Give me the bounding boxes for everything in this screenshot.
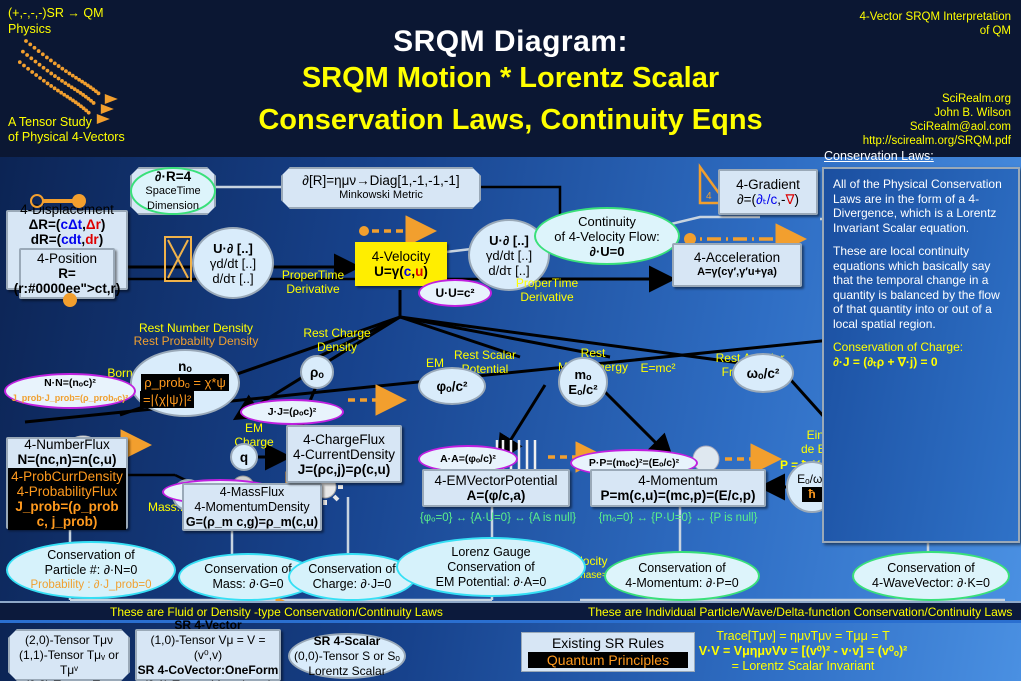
label-rest-prob-density: Rest Probabilty Density	[96, 335, 296, 349]
conservation-4-wavevector[interactable]: Conservation of 4-WaveVector: ∂·K=0	[852, 551, 1010, 601]
node-4-massflux[interactable]: 4-MassFlux 4-MomentumDensity G=(ρ_m c,g)…	[182, 483, 322, 531]
node-4-emvectorpotential[interactable]: 4-EMVectorPotential A=(φ/c,a)	[422, 469, 570, 507]
node-propertime-operator-1[interactable]: U·∂ [..] γd/dt [..] d/dτ [..]	[192, 227, 274, 299]
node-rest-scalar-potential-phi[interactable]: φₒ/c²	[418, 367, 486, 405]
node-4-chargeflux[interactable]: 4-ChargeFlux 4-CurrentDensity J=(ρc,j)=ρ…	[286, 425, 402, 483]
srqm-diagram-page: (+,-,-,-)SR → QM Physics A Tensor Study …	[0, 0, 1021, 681]
legend-sr-4-tensor[interactable]: SR 4-Tensor (2,0)-Tensor Tμν (1,1)-Tenso…	[8, 629, 130, 681]
header-right-tag1: 4-Vector SRQM Interpretation	[860, 10, 1011, 24]
conservation-particle-number[interactable]: Conservation of Particle #: ∂·N=0 Probab…	[6, 541, 176, 599]
page-subtitle-2: Conservation Laws, Continuity Eqns	[0, 104, 1021, 137]
footer: SR 4-Tensor (2,0)-Tensor Tμν (1,1)-Tenso…	[0, 620, 1021, 681]
panel-charge-eq: ∂·J = (∂ₜρ + ∇·j) = 0	[833, 355, 1009, 370]
node-continuity-4-velocity[interactable]: Continuity of 4-Velocity Flow: ∂·U=0	[534, 207, 680, 265]
header-email[interactable]: SciRealm@aol.com	[910, 120, 1011, 134]
header-author: John B. Wilson	[934, 106, 1011, 120]
note-p-null: {mₒ=0} ↔ {P·U=0} ↔ {P is null}	[578, 512, 778, 524]
trace-line-3: = Lorentz Scalar Invariant	[593, 659, 1013, 674]
header-url[interactable]: http://scirealm.org/SRQM.pdf	[863, 134, 1011, 148]
page-title: SRQM Diagram:	[0, 25, 1021, 59]
band-labels: These are Fluid or Density -type Conserv…	[0, 601, 1021, 622]
panel-paragraph-1: All of the Physical Conservation Laws ar…	[833, 177, 1009, 235]
svg-text:4: 4	[706, 191, 712, 202]
label-propertime-1: ProperTime Derivative	[268, 269, 358, 296]
label-rest-charge-density: Rest Charge Density	[292, 327, 382, 354]
note-a-null: {φₒ=0} ↔ {A·U=0} ↔ {A is null}	[398, 512, 598, 524]
label-propertime-2: ProperTime Derivative	[497, 277, 597, 304]
page-subtitle-1: SRQM Motion * Lorentz Scalar	[0, 62, 1021, 95]
conservation-4-momentum[interactable]: Conservation of 4-Momentum: ∂·P=0	[604, 551, 760, 601]
node-4-acceleration[interactable]: 4-Acceleration A=γ(cγ′,γ′u+γa)	[672, 243, 802, 287]
node-spacetime-dimension-ring: ∂·R=4 SpaceTime Dimension	[130, 167, 216, 215]
node-rest-charge-density-rho[interactable]: ρₒ	[300, 355, 334, 389]
node-4-velocity[interactable]: 4-Velocity U=γ(c,u)	[355, 242, 447, 286]
node-invariant-jj[interactable]: J·J=(ρₒc)²	[240, 399, 344, 425]
label-e-mc2: E=mc²	[628, 362, 688, 376]
header-site: SciRealm.org	[942, 92, 1011, 106]
conservation-laws-panel: All of the Physical Conservation Laws ar…	[822, 167, 1020, 543]
footer-trace-equations: Trace[Tμν] = ημνTμν = Tμμ = T V·V = Vμημ…	[593, 629, 1013, 674]
connector-dot-icon-2	[60, 290, 80, 310]
conservation-charge[interactable]: Conservation of Charge: ∂·J=0	[288, 553, 416, 601]
panel-title: Conservation Laws:	[824, 149, 934, 163]
node-u-dot-u[interactable]: U·U=c²	[418, 279, 492, 307]
node-4-gradient[interactable]: 4-Gradient ∂=(∂ₜ/c,-∇)	[718, 169, 818, 215]
trace-line-1: Trace[Tμν] = ημνTμν = Tμμ = T	[593, 629, 1013, 644]
band-left-label: These are Fluid or Density -type Conserv…	[110, 605, 443, 619]
node-rest-angular-frequency-omega[interactable]: ωₒ/c²	[732, 353, 794, 393]
node-4-numberflux[interactable]: 4-NumberFlux N=(nc,n)=n(c,u) 4-ProbCurrD…	[6, 437, 128, 529]
connector-dot-icon	[30, 193, 90, 209]
legend-sr-4-vector[interactable]: SR 4-Vector (1,0)-Tensor Vμ = V = (v⁰,v)…	[135, 629, 281, 681]
node-minkowski-metric[interactable]: ∂[R]=ημν→Diag[1,-1,-1,-1] Minkowski Metr…	[281, 167, 481, 209]
band-right-label: These are Individual Particle/Wave/Delta…	[588, 605, 1012, 619]
panel-paragraph-2: These are local continuity equations whi…	[833, 244, 1009, 331]
node-rest-mass-energy-mo-eo[interactable]: mₒ Eₒ/c²	[558, 357, 608, 407]
node-rest-number-density-no[interactable]: nₒ ρ_probₒ = χ*ψ =|⟨χ|ψ⟩|²	[130, 349, 240, 417]
node-4-displacement[interactable]: 4-Displacement ΔR=(cΔt,Δr) dR=(cdt,dr) 4…	[6, 210, 128, 290]
node-charge-q[interactable]: q	[230, 443, 258, 471]
diagram-canvas: 4	[0, 157, 1021, 609]
panel-charge-title: Conservation of Charge:	[833, 340, 1009, 355]
node-4-probcurrdensity[interactable]: 4-ProbCurrDensity 4-ProbabilityFlux J_pr…	[8, 468, 126, 530]
node-4-momentum[interactable]: 4-Momentum P=m(c,u)=(mc,p)=(E/c,p)	[590, 469, 766, 507]
node-invariant-nn[interactable]: N·N=(nₒc)² J_prob·J_prob=(ρ_probₒc)²	[4, 373, 136, 409]
trace-line-2: V·V = VμημνVν = [(v⁰)² - v·v] = (v⁰ₒ)²	[593, 644, 1013, 659]
header-right-tag2: of QM	[980, 24, 1011, 38]
conservation-em-potential[interactable]: Lorenz Gauge Conservation of EM Potentia…	[396, 537, 586, 597]
legend-sr-4-scalar[interactable]: SR 4-Scalar (0,0)-Tensor S or Sₒ Lorentz…	[288, 633, 406, 679]
header-corner-tag: (+,-,-,-)SR → QM	[8, 6, 103, 21]
header: (+,-,-,-)SR → QM Physics A Tensor Study …	[0, 0, 1021, 160]
